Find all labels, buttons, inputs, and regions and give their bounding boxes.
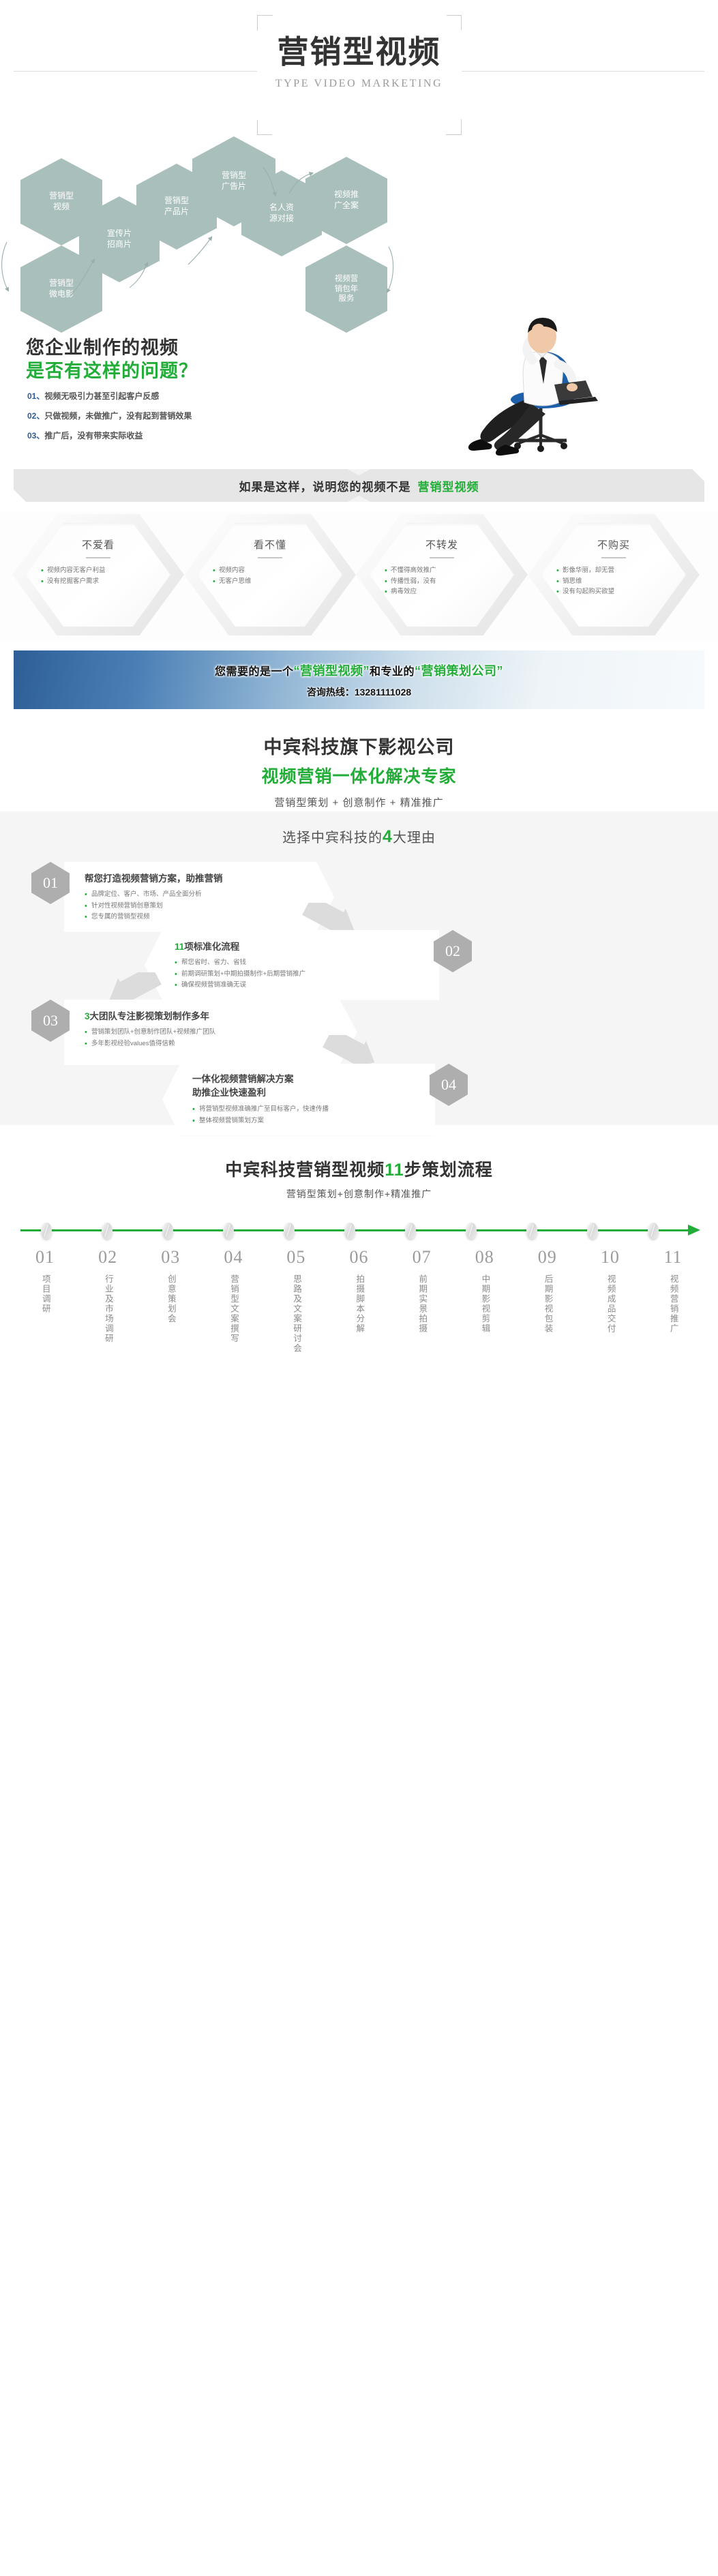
step-number: 03 xyxy=(139,1247,202,1268)
company-slogan: 视频营销一体化解决专家 xyxy=(0,763,718,788)
reason-point: 多年影视经验values值得信赖 xyxy=(85,1038,327,1050)
step-label: 后期影视包装 xyxy=(541,1274,554,1334)
step-label: 项目调研 xyxy=(38,1274,51,1314)
step-label: 思路及文案研讨会 xyxy=(290,1274,303,1353)
steps-title: 中宾科技营销型视频11步策划流程 xyxy=(14,1156,704,1181)
reason-card: 帮您打造视频营销方案，助推营销 品牌定位、客户、市场、产品全面分析 针对性视频营… xyxy=(64,862,334,932)
cta-quote-company: “营销策划公司” xyxy=(415,664,503,678)
step-number: 10 xyxy=(579,1247,642,1268)
company-services: 营销型策划 + 创意制作 + 精准推广 xyxy=(0,795,718,809)
symptom-point: 视频内容 xyxy=(213,565,329,576)
header-title-box: 营销型视频 TYPE VIDEO MARKETING xyxy=(257,15,462,135)
symptom-point: 传播性弱，没有 xyxy=(385,576,500,587)
reason-heading-number: 11 xyxy=(175,942,184,952)
company-name: 中宾科技旗下影视公司 xyxy=(0,732,718,759)
hex-label-line: 销包年 xyxy=(335,284,359,295)
reason-card: 3大团队专注影视策划制作多年 营销策划团队+创意制作团队+视频推广团队 多年影视… xyxy=(64,1000,357,1065)
steps-columns: 01 项目调研 02 行业及市场调研 03 创意策划会 04 营销型文案撰写 0… xyxy=(14,1247,704,1357)
cta-hotline[interactable]: 咨询热线：13281111028 xyxy=(307,685,411,699)
timeline-node xyxy=(223,1223,234,1239)
corner-bracket-icon xyxy=(257,120,272,135)
step-item[interactable]: 08 中期影视剪辑 xyxy=(453,1247,516,1357)
reason-card: 11项标准化流程 帮您省时、省力、省钱 前期调研策划+中期拍摄制作+后期营销推广… xyxy=(145,930,439,1000)
symptom-card[interactable]: 不转发 不懂得高效推广 传播性弱，没有 病毒效应 xyxy=(356,514,528,635)
hex-label-line: 名人资 xyxy=(269,203,294,213)
hex-label-line: 视频 xyxy=(49,202,74,213)
reason-point-list: 将营销型视频准确推广至目标客户，快速传播 整体视频营销策划方案 xyxy=(192,1104,417,1126)
timeline-node xyxy=(526,1223,537,1239)
company-section: 中宾科技旗下影视公司 视频营销一体化解决专家 营销型策划 + 创意制作 + 精准… xyxy=(0,723,718,811)
timeline-node xyxy=(405,1223,416,1239)
symptom-point: 无客户思维 xyxy=(213,576,329,587)
step-item[interactable]: 02 行业及市场调研 xyxy=(76,1247,139,1357)
timeline-node xyxy=(344,1223,355,1239)
reason-heading: 3大团队专注影视策划制作多年 xyxy=(85,1008,327,1022)
reasons-title-prefix: 选择中宾科技的 xyxy=(282,830,383,845)
ribbon-text-green: 营销型视频 xyxy=(418,477,479,494)
reason-row-01[interactable]: 01 帮您打造视频营销方案，助推营销 品牌定位、客户、市场、产品全面分析 针对性… xyxy=(31,862,334,932)
step-number: 06 xyxy=(327,1247,390,1268)
reason-row-03[interactable]: 03 3大团队专注影视策划制作多年 营销策划团队+创意制作团队+视频推广团队 多… xyxy=(31,1000,357,1065)
reason-point-list: 营销策划团队+创意制作团队+视频推广团队 多年影视经验values值得信赖 xyxy=(85,1027,327,1049)
step-item[interactable]: 04 营销型文案撰写 xyxy=(202,1247,265,1357)
service-hex-video-promo-plan[interactable]: 视频推 广全案 xyxy=(305,157,387,244)
reason-heading-text2: 助推企业快速盈利 xyxy=(192,1088,266,1098)
steps-section: 中宾科技营销型视频11步策划流程 营销型策划+创意制作+精准推广 01 项目调研 xyxy=(0,1125,718,1357)
reason-point-list: 品牌定位、客户、市场、产品全面分析 针对性视频营销创意策划 您专属的营销型视频 xyxy=(85,889,304,923)
title-underline xyxy=(601,557,626,558)
step-label: 创意策划会 xyxy=(164,1274,177,1324)
steps-timeline xyxy=(14,1218,704,1242)
symptom-title: 不转发 xyxy=(383,537,500,552)
step-item[interactable]: 11 视频营销推广 xyxy=(642,1247,704,1357)
symptom-point: 不懂得高效推广 xyxy=(385,565,500,576)
problem-item-text: 视频无吸引力甚至引起客户反感 xyxy=(44,391,159,401)
step-number: 05 xyxy=(265,1247,327,1268)
step-label: 视频成品交付 xyxy=(603,1274,616,1334)
hex-label-line: 源对接 xyxy=(269,213,294,224)
cta-headline: 您需要的是一个“营销型视频”和专业的“营销策划公司” xyxy=(215,661,503,679)
step-label: 前期实景拍摄 xyxy=(415,1274,428,1334)
steps-title-suffix: 步策划流程 xyxy=(404,1160,493,1180)
step-label: 视频营销推广 xyxy=(666,1274,679,1334)
reason-point: 针对性视频营销创意策划 xyxy=(85,901,304,912)
reason-heading: 11项标准化流程 xyxy=(175,939,421,953)
symptom-point-cont: 销思维 xyxy=(556,576,672,587)
symptom-title: 不爱看 xyxy=(40,537,157,552)
step-label: 中期影视剪辑 xyxy=(478,1274,491,1334)
steps-title-number: 11 xyxy=(385,1160,404,1180)
reason-badge: 03 xyxy=(31,1000,70,1042)
symptom-title: 看不懂 xyxy=(211,537,329,552)
reason-point: 确保视频营销准确无误 xyxy=(175,980,421,991)
ribbon-text-black: 如果是这样，说明您的视频不是 xyxy=(239,477,411,494)
problem-item-text: 只做视频，未做推广，没有起到营销效果 xyxy=(44,411,192,421)
timeline-node xyxy=(284,1223,295,1239)
reason-badge: 04 xyxy=(430,1064,468,1106)
hotline-label: 咨询热线： xyxy=(307,687,355,698)
ribbon-section: 如果是这样，说明您的视频不是 营销型视频 xyxy=(0,464,718,511)
symptom-point-cont: 病毒效应 xyxy=(385,586,500,597)
timeline-node xyxy=(162,1223,173,1239)
hex-label-line: 营销型 xyxy=(49,278,74,289)
reason-point: 您专属的营销型视频 xyxy=(85,912,304,923)
symptom-point: 没有挖掘客户需求 xyxy=(41,576,157,587)
step-item[interactable]: 01 项目调研 xyxy=(14,1247,76,1357)
symptom-point-list: 视频内容 无客户思维 xyxy=(211,565,329,586)
problem-list: 01、视频无吸引力甚至引起客户反感 02、只做视频，未做推广，没有起到营销效果 … xyxy=(27,390,192,449)
page-subtitle-en: TYPE VIDEO MARKETING xyxy=(257,78,462,90)
reasons-list: 01 帮您打造视频营销方案，助推营销 品牌定位、客户、市场、产品全面分析 针对性… xyxy=(0,856,718,1124)
symptom-card[interactable]: 不购买 影像华丽，却无营 销思维 没有勾起购买欲望 xyxy=(528,514,700,635)
symptom-point-list: 影像华丽，却无营 销思维 没有勾起购买欲望 xyxy=(555,565,672,597)
ribbon-banner: 如果是这样，说明您的视频不是 营销型视频 xyxy=(14,469,704,502)
timeline-node xyxy=(587,1223,598,1239)
page-header: 营销型视频 TYPE VIDEO MARKETING xyxy=(0,0,718,164)
reason-badge: 01 xyxy=(31,862,70,904)
hex-label-line: 产品片 xyxy=(164,207,189,218)
symptom-point: 视频内容无客户利益 xyxy=(41,565,157,576)
problem-section: 您企业制作的视频 是否有这样的问题？ 01、视频无吸引力甚至引起客户反感 02、… xyxy=(0,307,718,464)
step-number: 11 xyxy=(642,1247,704,1268)
step-number: 02 xyxy=(76,1247,139,1268)
symptom-point-list: 视频内容无客户利益 没有挖掘客户需求 xyxy=(40,565,157,586)
reason-badge: 02 xyxy=(434,930,472,972)
landing-page: 营销型视频 TYPE VIDEO MARKETING 营销型 视频 营销型 微电… xyxy=(0,0,718,1357)
timeline-node xyxy=(466,1223,477,1239)
problem-item-number: 02、 xyxy=(27,411,44,421)
hex-label-line: 招商片 xyxy=(107,239,132,250)
reason-point-list: 帮您省时、省力、省钱 前期调研策划+中期拍摄制作+后期营销推广 确保视频营销准确… xyxy=(175,957,421,991)
reason-heading: 帮您打造视频营销方案，助推营销 xyxy=(85,871,304,884)
problem-item: 01、视频无吸引力甚至引起客户反感 xyxy=(27,390,192,402)
reason-row-02[interactable]: 11项标准化流程 帮您省时、省力、省钱 前期调研策划+中期拍摄制作+后期营销推广… xyxy=(145,930,472,1000)
reason-heading-number: 3 xyxy=(85,1011,90,1021)
hex-label-line: 服务 xyxy=(335,294,359,304)
step-item[interactable]: 10 视频成品交付 xyxy=(579,1247,642,1357)
cta-middle: 和专业的 xyxy=(370,666,415,678)
hotline-number: 13281111028 xyxy=(355,687,411,698)
ribbon-corner-cut xyxy=(14,490,26,502)
symptom-point: 影像华丽，却无营 xyxy=(556,565,672,576)
step-item[interactable]: 09 后期影视包装 xyxy=(516,1247,579,1357)
reason-point: 将营销型视频准确推广至目标客户，快速传播 xyxy=(192,1104,417,1115)
cta-section: 您需要的是一个“营销型视频”和专业的“营销策划公司” 咨询热线：13281111… xyxy=(0,641,718,723)
reasons-title-number: 4 xyxy=(383,827,393,846)
hex-label-line: 宣传片 xyxy=(107,228,132,239)
problem-item-number: 01、 xyxy=(27,391,44,401)
step-item[interactable]: 05 思路及文案研讨会 xyxy=(265,1247,327,1357)
ribbon-corner-cut xyxy=(692,469,704,481)
hex-label-line: 广全案 xyxy=(334,200,359,211)
symptom-card[interactable]: 看不懂 视频内容 无客户思维 xyxy=(184,514,356,635)
hex-label-line: 视频营 xyxy=(335,274,359,284)
cta-banner: 您需要的是一个“营销型视频”和专业的“营销策划公司” 咨询热线：13281111… xyxy=(14,650,704,709)
symptom-title: 不购买 xyxy=(555,537,672,552)
reasons-title-suffix: 大理由 xyxy=(393,830,436,845)
step-number: 04 xyxy=(202,1247,265,1268)
title-underline xyxy=(86,557,110,558)
symptom-card[interactable]: 不爱看 视频内容无客户利益 没有挖掘客户需求 xyxy=(12,514,184,635)
symptom-point-list: 不懂得高效推广 传播性弱，没有 病毒效应 xyxy=(383,565,500,597)
timeline-arrow-icon xyxy=(688,1225,700,1235)
problem-item-number: 03、 xyxy=(27,431,44,440)
problem-item-text: 推广后，没有带来实际收益 xyxy=(44,431,143,440)
step-item[interactable]: 07 前期实景拍摄 xyxy=(391,1247,453,1357)
symptom-point: 没有勾起购买欲望 xyxy=(556,586,672,597)
title-underline xyxy=(258,557,282,558)
timeline-node xyxy=(41,1223,52,1239)
page-title: 营销型视频 xyxy=(257,15,462,72)
reason-heading-text: 项标准化流程 xyxy=(184,942,239,952)
reason-point: 品牌定位、客户、市场、产品全面分析 xyxy=(85,889,304,901)
problem-item: 02、只做视频，未做推广，没有起到营销效果 xyxy=(27,410,192,421)
service-hex-map: 营销型 视频 营销型 微电影 宣传片 招商片 xyxy=(0,164,718,307)
hex-label-line: 营销型 xyxy=(49,191,74,202)
step-number: 01 xyxy=(14,1247,76,1268)
symptom-card-grid: 不爱看 视频内容无客户利益 没有挖掘客户需求 看不懂 视频内容 无客户思 xyxy=(12,514,706,635)
timeline-node xyxy=(102,1223,113,1239)
reason-heading-text: 一体化视频营销解决方案 xyxy=(192,1074,294,1084)
reason-point: 营销策划团队+创意制作团队+视频推广团队 xyxy=(85,1027,327,1038)
timeline-node xyxy=(648,1223,659,1239)
step-label: 营销型文案撰写 xyxy=(227,1274,240,1344)
steps-subtitle: 营销型策划+创意制作+精准推广 xyxy=(14,1187,704,1201)
symptom-cards-section: 不爱看 视频内容无客户利益 没有挖掘客户需求 看不懂 视频内容 无客户思 xyxy=(0,511,718,641)
businessman-illustration xyxy=(438,314,643,460)
step-label: 行业及市场调研 xyxy=(101,1274,114,1344)
hex-label-line: 营销型 xyxy=(164,196,189,207)
step-label: 拍摄脚本分解 xyxy=(353,1274,365,1334)
corner-bracket-icon xyxy=(447,15,462,30)
reason-heading: 一体化视频营销解决方案 助推企业快速盈利 xyxy=(192,1073,417,1099)
cta-prefix: 您需要的是一个 xyxy=(215,666,294,678)
problem-item: 03、推广后，没有带来实际收益 xyxy=(27,430,192,441)
step-item[interactable]: 03 创意策划会 xyxy=(139,1247,202,1357)
step-number: 09 xyxy=(516,1247,579,1268)
reason-point: 帮您省时、省力、省钱 xyxy=(175,957,421,969)
cta-quote-video: “营销型视频” xyxy=(294,664,370,678)
reasons-title: 选择中宾科技的4大理由 xyxy=(0,826,718,847)
hex-label-line: 视频推 xyxy=(334,190,359,200)
hex-label-line: 微电影 xyxy=(49,289,74,300)
step-number: 07 xyxy=(391,1247,453,1268)
step-item[interactable]: 06 拍摄脚本分解 xyxy=(327,1247,390,1357)
steps-title-prefix: 中宾科技营销型视频 xyxy=(225,1160,385,1180)
step-number: 08 xyxy=(453,1247,516,1268)
reason-point: 前期调研策划+中期拍摄制作+后期营销推广 xyxy=(175,969,421,980)
reason-heading-text: 帮您打造视频营销方案，助推营销 xyxy=(85,873,223,884)
reason-heading-text: 大团队专注影视策划制作多年 xyxy=(90,1011,210,1021)
problem-headline-green: 是否有这样的问题？ xyxy=(26,356,198,383)
title-underline xyxy=(430,557,454,558)
reasons-section: 选择中宾科技的4大理由 01 帮您打造视频营销方案，助推营销 品牌定位、客户、市… xyxy=(0,811,718,1125)
